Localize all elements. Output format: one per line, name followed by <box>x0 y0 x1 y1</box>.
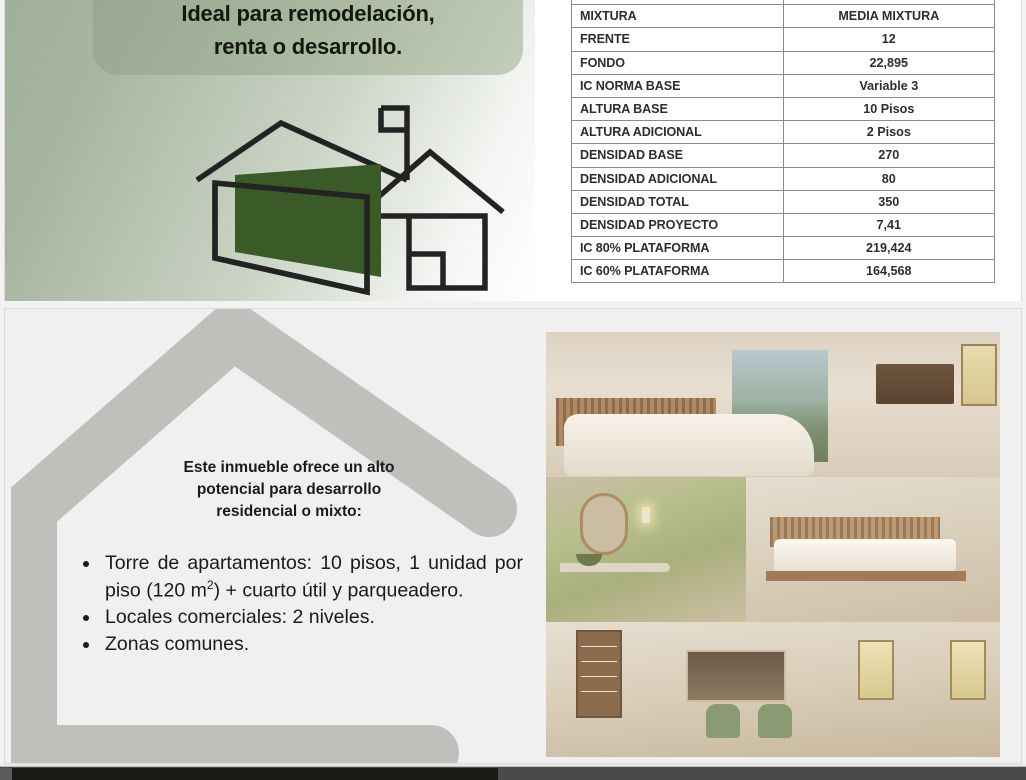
promo-heading-line-1: Este inmueble ofrece un alto <box>89 457 489 479</box>
table-cell-value: 80 <box>783 167 994 190</box>
scrollbar-left-end[interactable] <box>0 768 12 780</box>
feature-bullet-list: Torre de apartamentos: 10 pisos, 1 unida… <box>77 551 523 659</box>
table-row: ALTURA BASE10 Pisos <box>572 97 995 120</box>
wall-sconce-light <box>642 507 650 523</box>
table-cell-key: ALTURA BASE <box>572 97 784 120</box>
table-row: FRENTE12 <box>572 28 995 51</box>
list-item: Zonas comunes. <box>101 632 523 658</box>
bullet-1-post: ) + cuarto útil y parqueadero. <box>214 579 464 601</box>
banner-line-1: Ideal para remodelación, <box>93 0 523 31</box>
table-row: IC NORMA BASEVariable 3 <box>572 74 995 97</box>
slide-page-2: Este inmueble ofrece un alto potencial p… <box>4 308 1022 764</box>
table-row: FONDO22,895 <box>572 51 995 74</box>
table-cell-key: MIXTURA <box>572 5 784 28</box>
bullet-1-superscript: 2 <box>207 578 214 592</box>
table-row: DENSIDAD PROYECTO7,41 <box>572 213 995 236</box>
open-shelving <box>576 630 622 718</box>
table-row: IC 60% PLATAFORMA164,568 <box>572 260 995 283</box>
render-photo-collage <box>546 332 1000 757</box>
photo-kitchen-dining-area <box>546 622 1000 757</box>
table-row: MIXTURAMEDIA MIXTURA <box>572 5 995 28</box>
slide-separator <box>0 301 1026 308</box>
table-cell-value: 22,895 <box>783 51 994 74</box>
specification-table-body: POLIGONOZ4_CN4_12MIXTURAMEDIA MIXTURAFRE… <box>572 0 995 283</box>
table-cell-value: MEDIA MIXTURA <box>783 5 994 28</box>
table-cell-key: IC 80% PLATAFORMA <box>572 237 784 260</box>
table-cell-key: DENSIDAD BASE <box>572 144 784 167</box>
house-line-illustration <box>185 92 555 301</box>
bed-mattress <box>774 539 956 573</box>
banner-text: Ideal para remodelación, renta o desarro… <box>93 0 523 63</box>
table-cell-value: 12 <box>783 28 994 51</box>
table-cell-key: DENSIDAD TOTAL <box>572 190 784 213</box>
framed-art-poster <box>858 640 894 700</box>
table-cell-value: 219,424 <box>783 237 994 260</box>
table-row: DENSIDAD TOTAL350 <box>572 190 995 213</box>
table-cell-value: 10 Pisos <box>783 97 994 120</box>
table-cell-key: DENSIDAD PROYECTO <box>572 213 784 236</box>
dining-chair <box>758 704 792 738</box>
wall-mounted-tv <box>876 364 954 404</box>
photo-bedroom-with-city-view <box>546 332 1000 477</box>
banner-line-2: renta o desarrollo. <box>93 31 523 64</box>
table-row: IC 80% PLATAFORMA219,424 <box>572 237 995 260</box>
promo-heading-line-2: potencial para desarrollo <box>89 479 489 501</box>
slide-page-1: Ideal para remodelación, renta o desarro… <box>4 0 1022 301</box>
horizontal-scrollbar[interactable] <box>0 766 1026 780</box>
framed-art-poster <box>961 344 997 406</box>
table-row: ALTURA ADICIONAL2 Pisos <box>572 121 995 144</box>
table-cell-value: 350 <box>783 190 994 213</box>
table-cell-value: 164,568 <box>783 260 994 283</box>
specification-table: POLIGONOZ4_CN4_12MIXTURAMEDIA MIXTURAFRE… <box>571 0 995 283</box>
oval-mirror <box>580 493 628 555</box>
table-cell-key: FRENTE <box>572 28 784 51</box>
list-item: Torre de apartamentos: 10 pisos, 1 unida… <box>101 551 523 604</box>
dining-chair <box>706 704 740 738</box>
vanity-counter <box>560 563 670 572</box>
table-cell-value: 2 Pisos <box>783 121 994 144</box>
scrollbar-thumb[interactable] <box>12 768 498 780</box>
table-cell-value: 7,41 <box>783 213 994 236</box>
table-row: DENSIDAD ADICIONAL80 <box>572 167 995 190</box>
promo-heading-line-3: residencial o mixto: <box>89 501 489 523</box>
bed-platform <box>766 571 966 581</box>
table-cell-key: FONDO <box>572 51 784 74</box>
table-row: DENSIDAD BASE270 <box>572 144 995 167</box>
table-cell-key: ALTURA ADICIONAL <box>572 121 784 144</box>
table-cell-value: Variable 3 <box>783 74 994 97</box>
document-viewer[interactable]: Ideal para remodelación, renta o desarro… <box>0 0 1026 780</box>
photo-bedroom-wood-slat-headboard <box>746 477 1000 622</box>
table-cell-value: 270 <box>783 144 994 167</box>
framed-art-poster <box>950 640 986 700</box>
table-cell-key: IC 60% PLATAFORMA <box>572 260 784 283</box>
table-cell-key: IC NORMA BASE <box>572 74 784 97</box>
house-outline-graphic <box>11 309 541 764</box>
kitchen-window-panel <box>686 650 786 702</box>
table-cell-key: DENSIDAD ADICIONAL <box>572 167 784 190</box>
photo-bathroom-vanity-green-wall <box>546 477 746 622</box>
promo-heading: Este inmueble ofrece un alto potencial p… <box>89 457 489 523</box>
list-item: Locales comerciales: 2 niveles. <box>101 605 523 631</box>
bed-with-pillows <box>564 414 814 476</box>
